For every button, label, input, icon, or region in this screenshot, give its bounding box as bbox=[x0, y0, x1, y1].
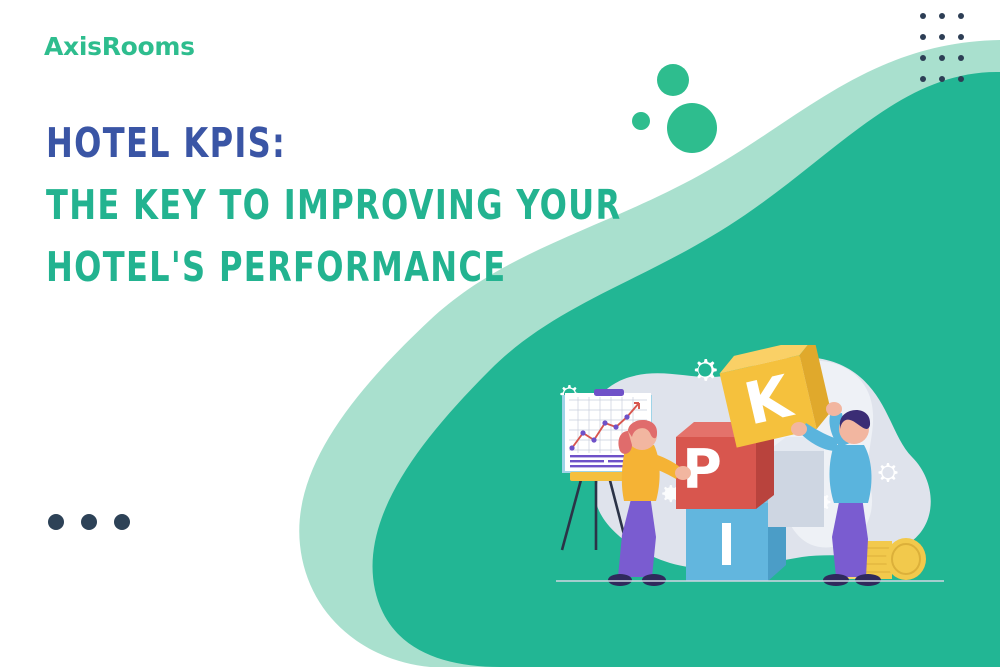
dot-grid-decoration bbox=[920, 13, 977, 97]
bottom-dot bbox=[48, 514, 64, 530]
brand-logo[interactable]: AxisRooms bbox=[44, 32, 195, 61]
woman-shoe bbox=[608, 574, 632, 586]
green-circle-medium-icon bbox=[657, 64, 689, 96]
woman-shoe bbox=[642, 574, 666, 586]
grid-dot bbox=[920, 34, 926, 40]
gear-icon bbox=[695, 359, 717, 381]
bottom-dots-decoration bbox=[48, 514, 130, 530]
grid-dot bbox=[920, 55, 926, 61]
bottom-dot bbox=[114, 514, 130, 530]
page-title: HOTEL KPIS: THE KEY TO IMPROVING YOUR HO… bbox=[46, 112, 708, 298]
headline-line-2: THE KEY TO IMPROVING YOUR bbox=[46, 174, 622, 236]
flipchart-clip bbox=[594, 389, 624, 396]
kpi-block-blank bbox=[768, 437, 824, 527]
grid-dot bbox=[958, 76, 964, 82]
kpi-illustration: P K bbox=[540, 345, 960, 600]
man-hand bbox=[791, 422, 807, 436]
woman-top bbox=[622, 445, 660, 501]
grid-dot bbox=[939, 76, 945, 82]
grid-dot bbox=[939, 34, 945, 40]
man-shoe bbox=[855, 574, 881, 586]
grid-dot bbox=[920, 76, 926, 82]
headline-line-1: HOTEL KPIS: bbox=[46, 112, 622, 174]
grid-dot bbox=[958, 13, 964, 19]
man-hand bbox=[826, 402, 842, 416]
headline-line-3: HOTEL'S PERFORMANCE bbox=[46, 236, 622, 298]
woman-hand bbox=[675, 466, 691, 480]
grid-dot bbox=[958, 34, 964, 40]
grid-dot bbox=[920, 13, 926, 19]
bottom-dot bbox=[81, 514, 97, 530]
grid-dot bbox=[939, 13, 945, 19]
man-top bbox=[830, 445, 872, 503]
grid-dot bbox=[958, 55, 964, 61]
block-letter-i bbox=[722, 523, 731, 565]
grid-dot bbox=[939, 55, 945, 61]
hotel-kpis-banner: AxisRooms HOTEL KPIS: THE KEY TO IMPROVI… bbox=[0, 0, 1000, 667]
gear-icon bbox=[879, 463, 898, 482]
man-shoe bbox=[823, 574, 849, 586]
